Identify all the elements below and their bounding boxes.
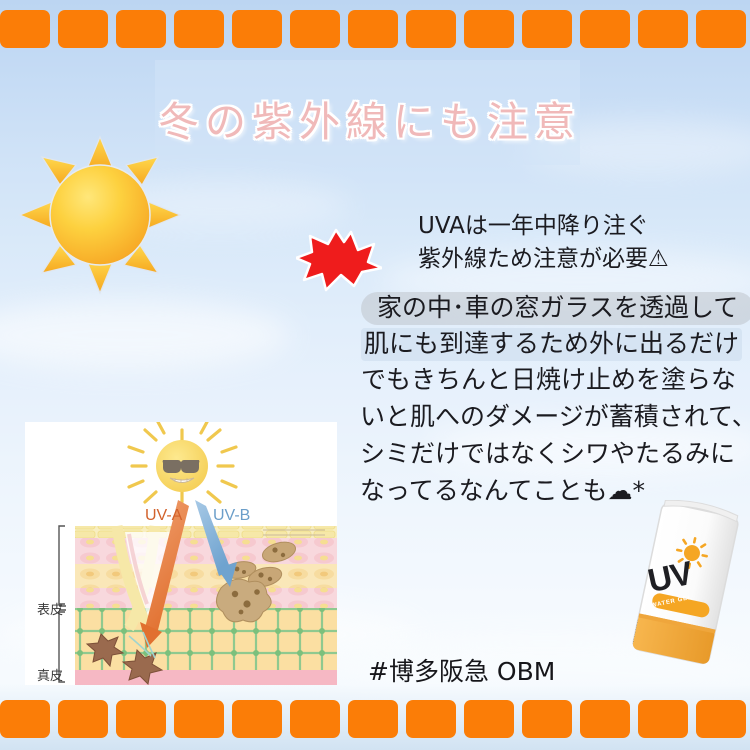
intro-line-1: UVAは一年中降り注ぐ bbox=[418, 210, 669, 243]
hashtag-text: #博多阪急 OBM bbox=[368, 652, 555, 688]
border-block bbox=[638, 700, 688, 738]
intro-paragraph: UVAは一年中降り注ぐ 紫外線ため注意が必要⚠ bbox=[418, 210, 669, 276]
lower-line-1: いと肌へのダメージが蓄積されて、 bbox=[360, 398, 750, 435]
lower-line-2: シミだけではなくシワやたるみに bbox=[360, 435, 750, 472]
bottom-border-strip bbox=[0, 700, 750, 738]
border-block bbox=[290, 700, 340, 738]
border-block bbox=[406, 10, 456, 48]
middle-line-2: 肌にも到達するため外に出るだけ bbox=[361, 328, 742, 361]
poster-canvas: 冬の紫外線にも注意 bbox=[0, 0, 750, 750]
intro-line-2: 紫外線ため注意が必要⚠ bbox=[418, 243, 669, 276]
border-block bbox=[464, 700, 514, 738]
middle-line-2-wrap: 肌にも到達するため外に出るだけ bbox=[361, 326, 750, 362]
cloud-wisp bbox=[0, 300, 290, 370]
border-block bbox=[406, 700, 456, 738]
border-block bbox=[58, 700, 108, 738]
border-block bbox=[522, 700, 572, 738]
page-title: 冬の紫外線にも注意 bbox=[158, 88, 588, 148]
skin-cross-section-diagram: UV-A UV-B 表皮 真皮 bbox=[25, 422, 337, 685]
epidermis-label: 表皮 bbox=[37, 599, 63, 618]
border-block bbox=[232, 700, 282, 738]
dermis-label: 真皮 bbox=[37, 665, 63, 684]
border-block bbox=[116, 700, 166, 738]
border-block bbox=[522, 10, 572, 48]
middle-paragraph: 家の中･車の窓ガラスを透過して 肌にも到達するため外に出るだけ でもきちんと日焼… bbox=[361, 290, 750, 398]
border-block bbox=[696, 10, 746, 48]
border-block bbox=[638, 10, 688, 48]
middle-line-3: でもきちんと日焼け止めを塗らな bbox=[361, 362, 750, 398]
border-block bbox=[116, 10, 166, 48]
top-border-strip bbox=[0, 10, 750, 48]
uva-label: UV-A bbox=[145, 507, 182, 525]
uvb-label: UV-B bbox=[213, 507, 250, 525]
border-block bbox=[0, 10, 50, 48]
border-block bbox=[696, 700, 746, 738]
border-block bbox=[174, 10, 224, 48]
middle-line-1: 家の中･車の窓ガラスを透過して bbox=[361, 292, 750, 325]
border-block bbox=[290, 10, 340, 48]
border-block bbox=[580, 700, 630, 738]
sun-icon bbox=[18, 135, 183, 295]
border-block bbox=[464, 10, 514, 48]
middle-line-1-wrap: 家の中･車の窓ガラスを透過して bbox=[361, 290, 750, 326]
border-block bbox=[232, 10, 282, 48]
border-block bbox=[348, 700, 398, 738]
lower-paragraph: いと肌へのダメージが蓄積されて、 シミだけではなくシワやたるみに なってるなんて… bbox=[360, 398, 750, 509]
border-block bbox=[580, 10, 630, 48]
border-block bbox=[348, 10, 398, 48]
border-block bbox=[0, 700, 50, 738]
border-block bbox=[174, 700, 224, 738]
border-block bbox=[58, 10, 108, 48]
